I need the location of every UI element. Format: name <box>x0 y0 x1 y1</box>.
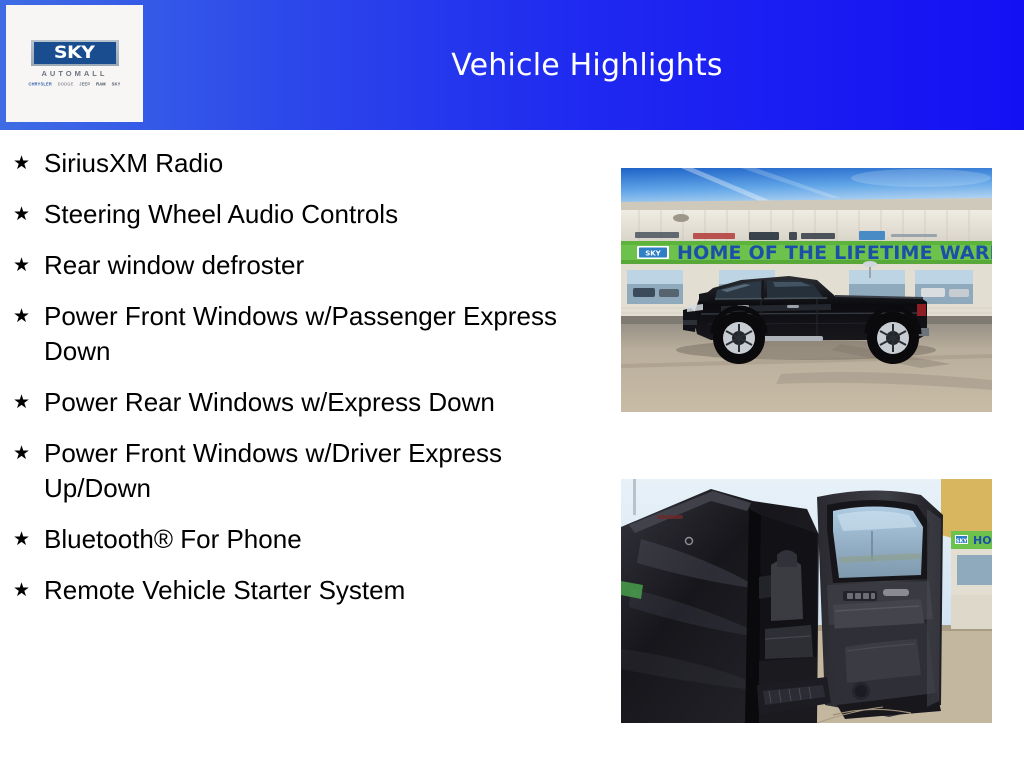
star-bullet-icon: ★ <box>13 436 44 471</box>
page-title: Vehicle Highlights <box>150 0 1024 130</box>
list-item: ★ SiriusXM Radio <box>0 146 600 181</box>
brand-mark-sky: SKY <box>112 79 121 87</box>
star-bullet-icon: ★ <box>13 385 44 420</box>
star-bullet-icon: ★ <box>13 299 44 334</box>
star-bullet-icon: ★ <box>13 573 44 608</box>
star-bullet-icon: ★ <box>13 197 44 232</box>
list-item: ★ Rear window defroster <box>0 248 600 283</box>
list-item-label: Remote Vehicle Starter System <box>44 573 600 608</box>
header-bar: Vehicle Highlights <box>0 0 1024 130</box>
brand-logo-strip: CHRYSLER DODGE JEEP RAM SKY <box>29 80 121 87</box>
exterior-photo-graphic: SKY HOME OF THE LIFETIME WARRANTY <box>621 168 992 412</box>
svg-text:SKY: SKY <box>956 539 967 545</box>
list-item: ★ Power Rear Windows w/Express Down <box>0 385 600 420</box>
list-item-label: Power Front Windows w/Passenger Express … <box>44 299 600 369</box>
list-item: ★ Power Front Windows w/Driver Express U… <box>0 436 600 506</box>
logo-subtitle: AUTOMALL <box>42 69 108 78</box>
list-item-label: Steering Wheel Audio Controls <box>44 197 600 232</box>
list-item-label: SiriusXM Radio <box>44 146 600 181</box>
brand-mark-chrysler: CHRYSLER <box>29 79 52 87</box>
brand-mark-jeep: JEEP <box>79 79 90 87</box>
logo-inner: SKY AUTOMALL CHRYSLER DODGE JEEP RAM SKY <box>26 40 124 87</box>
star-bullet-icon: ★ <box>13 248 44 283</box>
list-item: ★ Steering Wheel Audio Controls <box>0 197 600 232</box>
svg-text:HO: HO <box>973 534 992 547</box>
list-item-label: Rear window defroster <box>44 248 600 283</box>
list-item-label: Bluetooth® For Phone <box>44 522 600 557</box>
dealer-logo[interactable]: SKY AUTOMALL CHRYSLER DODGE JEEP RAM SKY <box>6 5 143 122</box>
star-bullet-icon: ★ <box>13 146 44 181</box>
list-item: ★ Remote Vehicle Starter System <box>0 573 600 608</box>
brand-mark-dodge: DODGE <box>58 79 74 87</box>
star-bullet-icon: ★ <box>13 522 44 557</box>
vehicle-photo-interior[interactable]: SKY HO <box>621 479 992 723</box>
svg-text:SKY: SKY <box>645 250 661 258</box>
list-item: ★ Bluetooth® For Phone <box>0 522 600 557</box>
vehicle-highlights-list: ★ SiriusXM Radio ★ Steering Wheel Audio … <box>0 146 600 624</box>
list-item-label: Power Front Windows w/Driver Express Up/… <box>44 436 600 506</box>
vehicle-photo-exterior[interactable]: SKY HOME OF THE LIFETIME WARRANTY <box>621 168 992 412</box>
sky-logo-text: SKY <box>54 43 95 63</box>
sky-logo-plate: SKY <box>31 40 119 66</box>
list-item: ★ Power Front Windows w/Passenger Expres… <box>0 299 600 369</box>
brand-mark-ram: RAM <box>96 79 106 87</box>
list-item-label: Power Rear Windows w/Express Down <box>44 385 600 420</box>
banner-text: HOME OF THE LIFETIME WARRANTY <box>677 242 992 264</box>
interior-photo-graphic: SKY HO <box>621 479 992 723</box>
